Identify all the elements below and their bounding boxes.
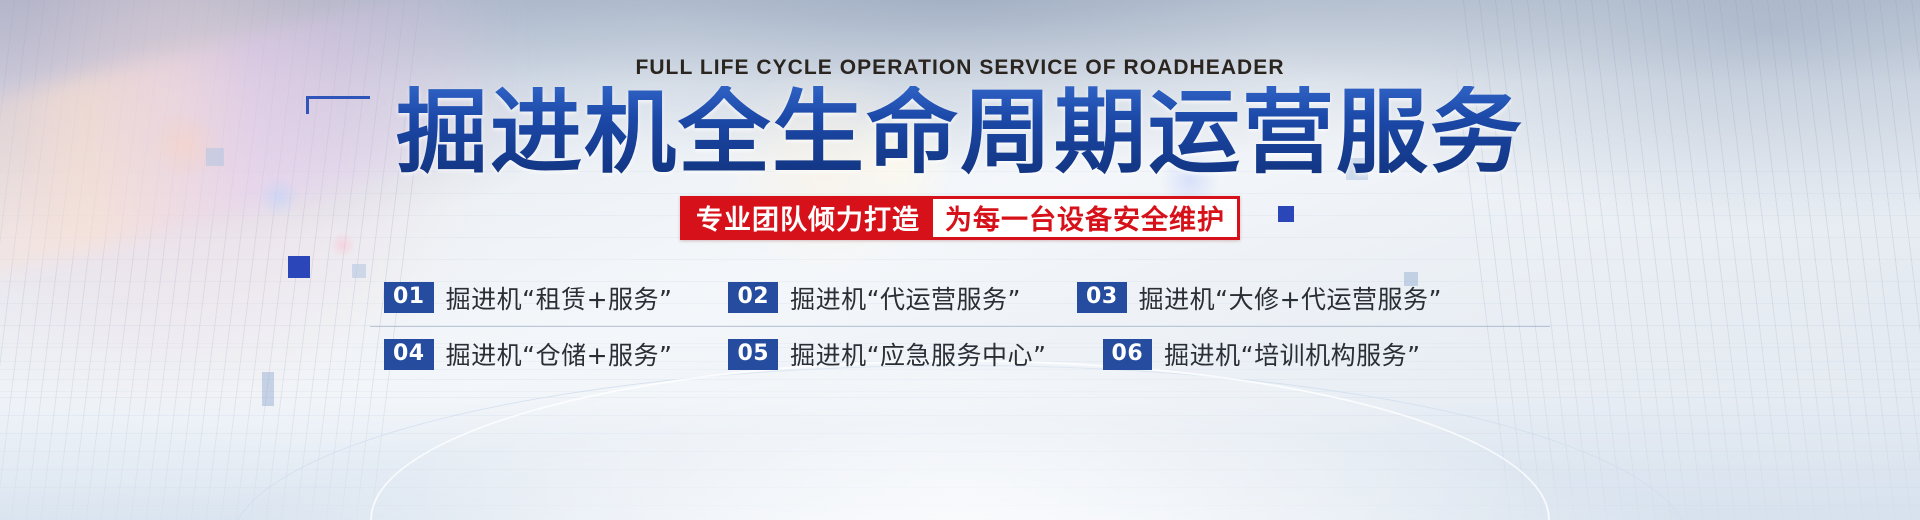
- service-item-03[interactable]: 03 掘进机“大修+代运营服务”: [1077, 280, 1442, 316]
- service-row-2: 04 掘进机“仓储+服务” 05 掘进机“应急服务中心” 06 掘进机“培训机构…: [370, 326, 1550, 382]
- service-item-01[interactable]: 01 掘进机“租赁+服务”: [384, 280, 672, 316]
- slogan-secondary: 为每一台设备安全维护: [933, 199, 1237, 237]
- service-label: 掘进机“仓储+服务”: [446, 336, 673, 372]
- service-label: 掘进机“代运营服务”: [790, 280, 1021, 316]
- service-item-02[interactable]: 02 掘进机“代运营服务”: [728, 280, 1021, 316]
- banner-slogan-bar: 专业团队倾力打造 为每一台设备安全维护: [680, 196, 1240, 240]
- service-row-1: 01 掘进机“租赁+服务” 02 掘进机“代运营服务” 03 掘进机“大修+代运…: [370, 270, 1550, 326]
- service-number-badge: 01: [384, 282, 434, 313]
- promotional-banner: FULL LIFE CYCLE OPERATION SERVICE OF ROA…: [0, 0, 1920, 520]
- service-item-06[interactable]: 06 掘进机“培训机构服务”: [1103, 336, 1421, 372]
- service-item-04[interactable]: 04 掘进机“仓储+服务”: [384, 336, 672, 372]
- banner-content: FULL LIFE CYCLE OPERATION SERVICE OF ROA…: [0, 0, 1920, 520]
- banner-eyebrow-english: FULL LIFE CYCLE OPERATION SERVICE OF ROA…: [635, 56, 1284, 80]
- service-label: 掘进机“租赁+服务”: [446, 280, 673, 316]
- service-list: 01 掘进机“租赁+服务” 02 掘进机“代运营服务” 03 掘进机“大修+代运…: [370, 270, 1550, 382]
- service-item-05[interactable]: 05 掘进机“应急服务中心”: [728, 336, 1046, 372]
- banner-headline: 掘进机全生命周期运营服务: [396, 86, 1524, 180]
- slogan-primary: 专业团队倾力打造: [683, 199, 933, 237]
- service-number-badge: 03: [1077, 282, 1127, 313]
- service-label: 掘进机“应急服务中心”: [790, 336, 1046, 372]
- service-number-badge: 02: [728, 282, 778, 313]
- service-number-badge: 06: [1103, 339, 1153, 370]
- service-number-badge: 05: [728, 339, 778, 370]
- service-label: 掘进机“培训机构服务”: [1164, 336, 1420, 372]
- service-label: 掘进机“大修+代运营服务”: [1139, 280, 1442, 316]
- service-number-badge: 04: [384, 339, 434, 370]
